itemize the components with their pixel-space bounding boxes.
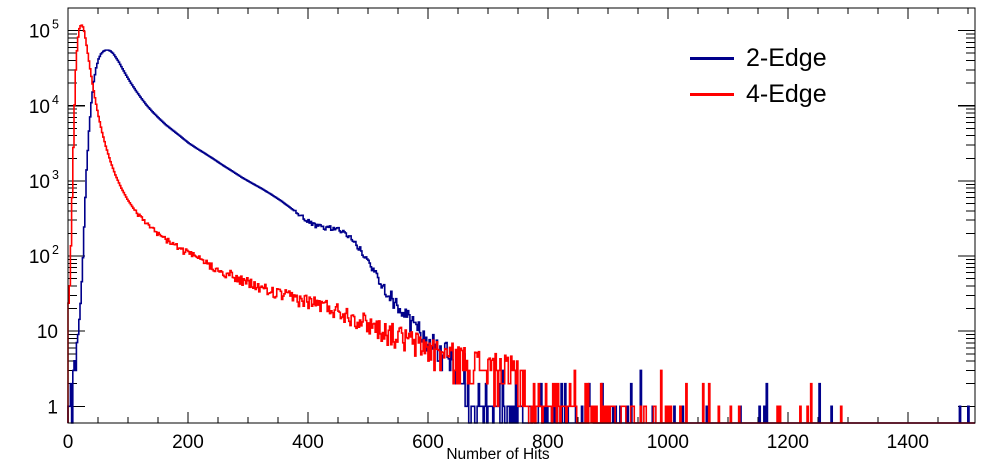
y-tick-label: 103 (29, 168, 59, 193)
svg-text:10: 10 (29, 97, 50, 118)
y-tick-label: 102 (29, 243, 59, 268)
svg-text:5: 5 (52, 18, 59, 32)
svg-text:3: 3 (52, 168, 59, 182)
svg-text:10: 10 (29, 172, 50, 193)
svg-text:1: 1 (47, 397, 58, 418)
legend-swatch-4-edge (690, 93, 734, 96)
svg-text:10: 10 (29, 22, 50, 43)
legend-item-2-edge[interactable]: 2-Edge (690, 40, 920, 76)
legend: 2-Edge 4-Edge (690, 40, 920, 112)
y-axis-tick-labels: 110102103104105 (29, 18, 59, 419)
y-tick-label: 10 (37, 322, 58, 343)
legend-label-4-edge: 4-Edge (746, 80, 827, 109)
x-axis-title-text: Number of Hits (446, 446, 549, 463)
legend-item-4-edge[interactable]: 4-Edge (690, 76, 920, 112)
legend-swatch-2-edge (690, 57, 734, 60)
svg-text:10: 10 (29, 247, 50, 268)
y-tick-label: 1 (47, 397, 58, 418)
legend-label-2-edge: 2-Edge (746, 44, 827, 73)
svg-text:10: 10 (37, 322, 58, 343)
svg-text:4: 4 (52, 93, 59, 107)
y-tick-label: 104 (29, 93, 59, 118)
chart-canvas: 0200400600800100012001400 11010210310410… (0, 0, 996, 472)
y-tick-label: 105 (29, 18, 59, 43)
svg-text:2: 2 (52, 243, 59, 257)
x-axis-title: Number of Hits (0, 446, 996, 464)
